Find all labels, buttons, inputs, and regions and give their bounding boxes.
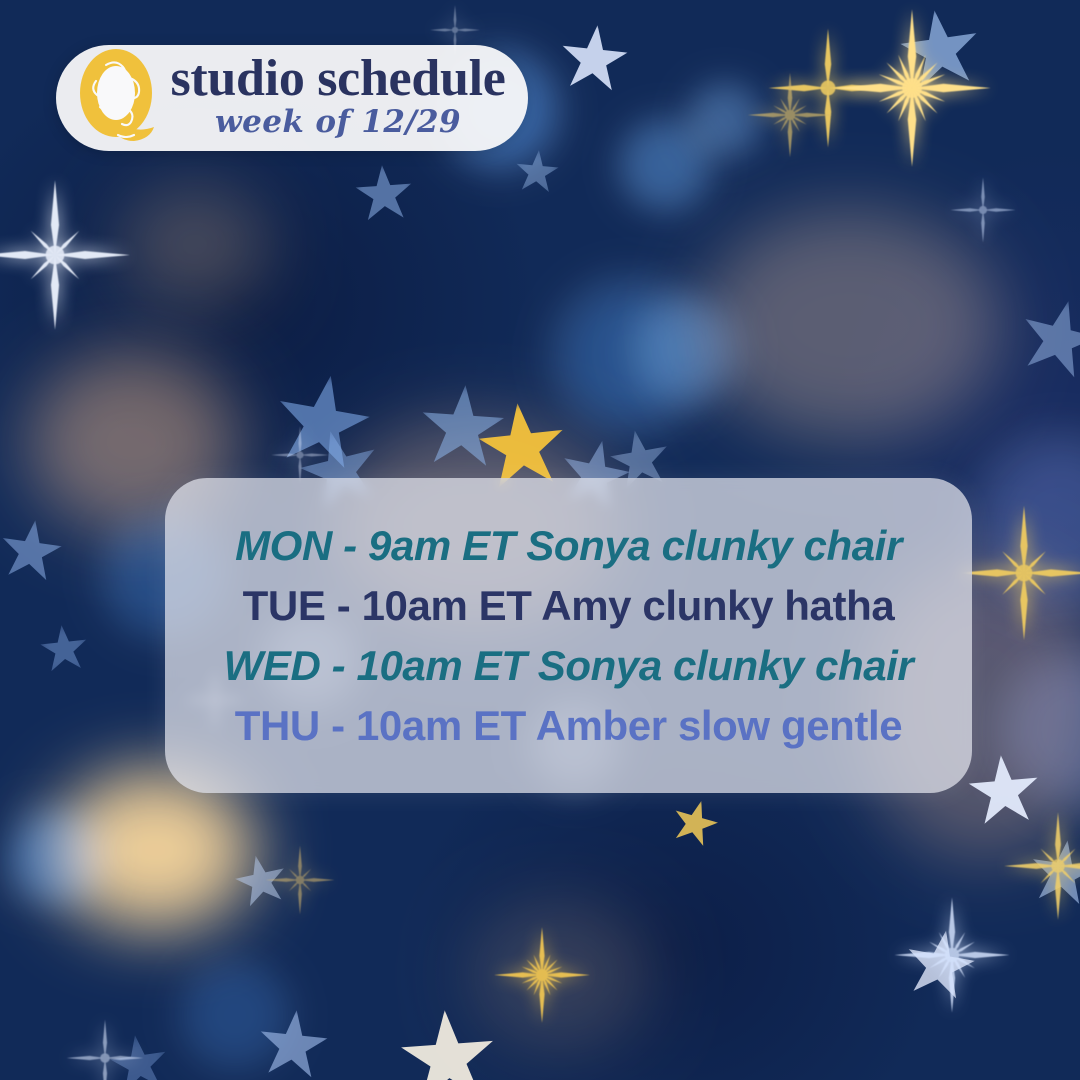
schedule-poster: studio schedule week of 12/29 MON - 9am …	[0, 0, 1080, 1080]
bokeh-mid-right	[620, 285, 750, 415]
schedule-row-wed: WED - 10am ET Sonya clunky chair	[187, 636, 950, 696]
badge-subtitle: week of 12/29	[154, 105, 522, 139]
schedule-row-mon: MON - 9am ET Sonya clunky chair	[187, 516, 950, 576]
schedule-row-thu: THU - 10am ET Amber slow gentle	[187, 696, 950, 756]
bokeh-top-right	[680, 75, 770, 165]
schedule-card: MON - 9am ET Sonya clunky chairTUE - 10a…	[165, 478, 972, 793]
studio-schedule-badge: studio schedule week of 12/29	[56, 45, 528, 151]
amber-cloud-bottom-mid	[470, 900, 650, 1050]
badge-title: studio schedule	[154, 51, 522, 107]
schedule-row-tue: TUE - 10am ET Amy clunky hatha	[187, 576, 950, 636]
amber-cloud-top-left	[120, 185, 270, 305]
